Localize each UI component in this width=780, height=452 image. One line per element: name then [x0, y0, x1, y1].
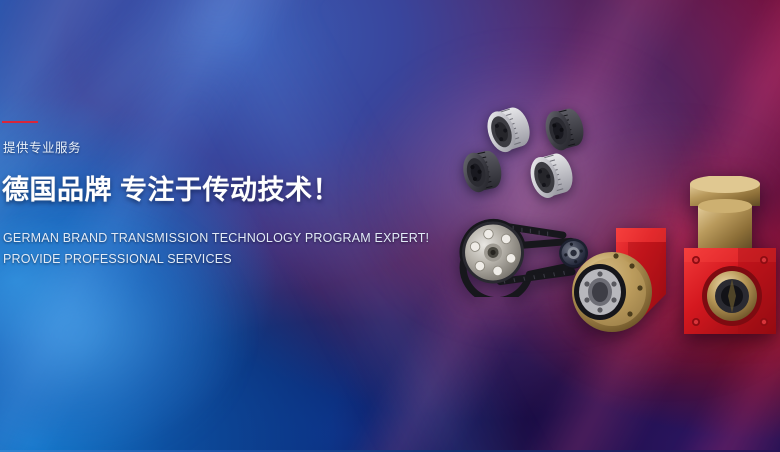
banner-subtitle-english: GERMAN BRAND TRANSMISSION TECHNOLOGY PRO… [3, 228, 429, 270]
banner-subtitle-line-1: GERMAN BRAND TRANSMISSION TECHNOLOGY PRO… [3, 231, 429, 245]
hero-banner: 提供专业服务 德国品牌 专注于传动技术！ GERMAN BRAND TRANSM… [0, 0, 780, 452]
banner-headline: 德国品牌 专注于传动技术！ [2, 168, 340, 207]
banner-eyebrow: 提供专业服务 [3, 137, 81, 156]
banner-text-block: 提供专业服务 德国品牌 专注于传动技术！ GERMAN BRAND TRANSM… [0, 0, 400, 452]
right-angle-gearbox-left-icon [570, 222, 688, 357]
banner-subtitle-line-2: PROVIDE PROFESSIONAL SERVICES [3, 249, 429, 270]
timing-pulley-dark-left-icon [456, 145, 510, 197]
accent-rule [2, 121, 38, 123]
right-angle-gearbox-right-icon [676, 176, 780, 341]
